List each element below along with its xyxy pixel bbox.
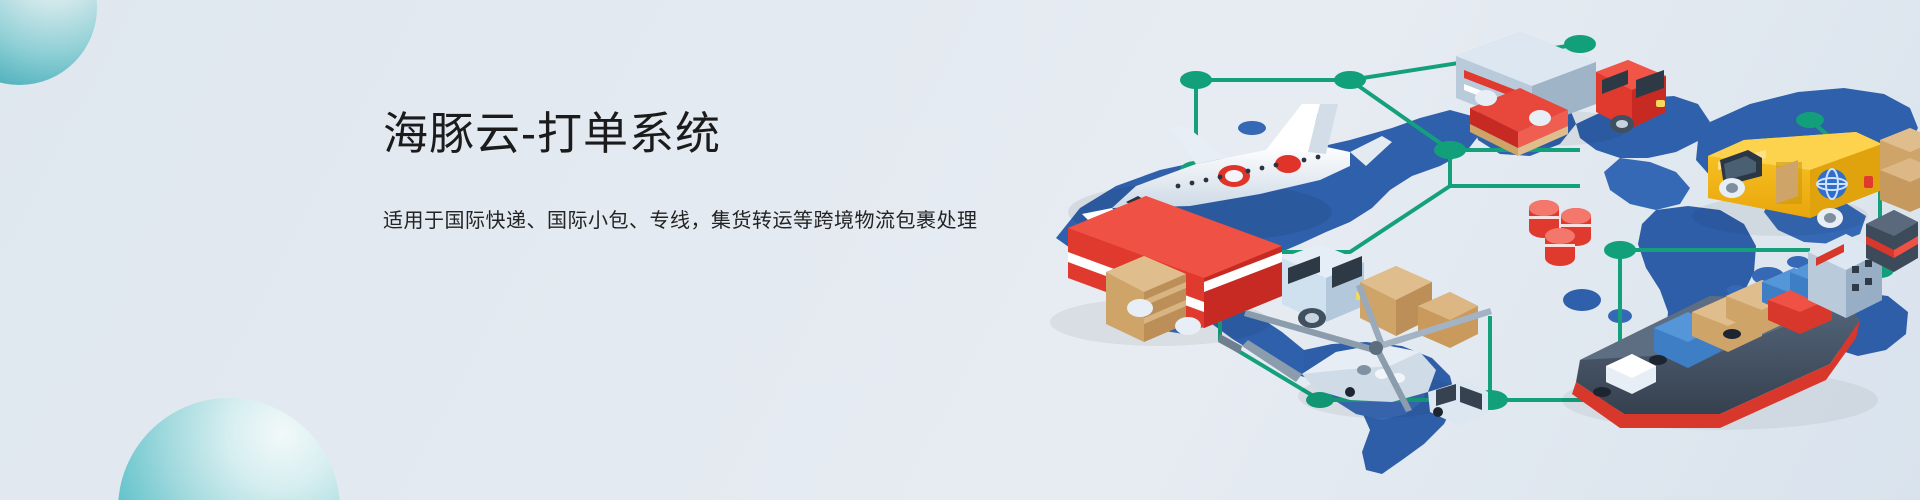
red-barrels [1529,200,1591,266]
decorative-circle-top-left [0,0,97,85]
isometric-global-logistics-map [1020,0,1920,500]
page-subtitle: 适用于国际快递、国际小包、专线，集货转运等跨境物流包裹处理 [383,204,1003,233]
banner-text-block: 海豚云-打单系统 适用于国际快递、国际小包、专线，集货转运等跨境物流包裹处理 [383,108,1003,233]
page-title: 海豚云-打单系统 [383,108,1003,160]
promo-banner: 海豚云-打单系统 适用于国际快递、国际小包、专线，集货转运等跨境物流包裹处理 [0,0,1920,500]
decorative-circle-bottom-left [118,398,340,500]
